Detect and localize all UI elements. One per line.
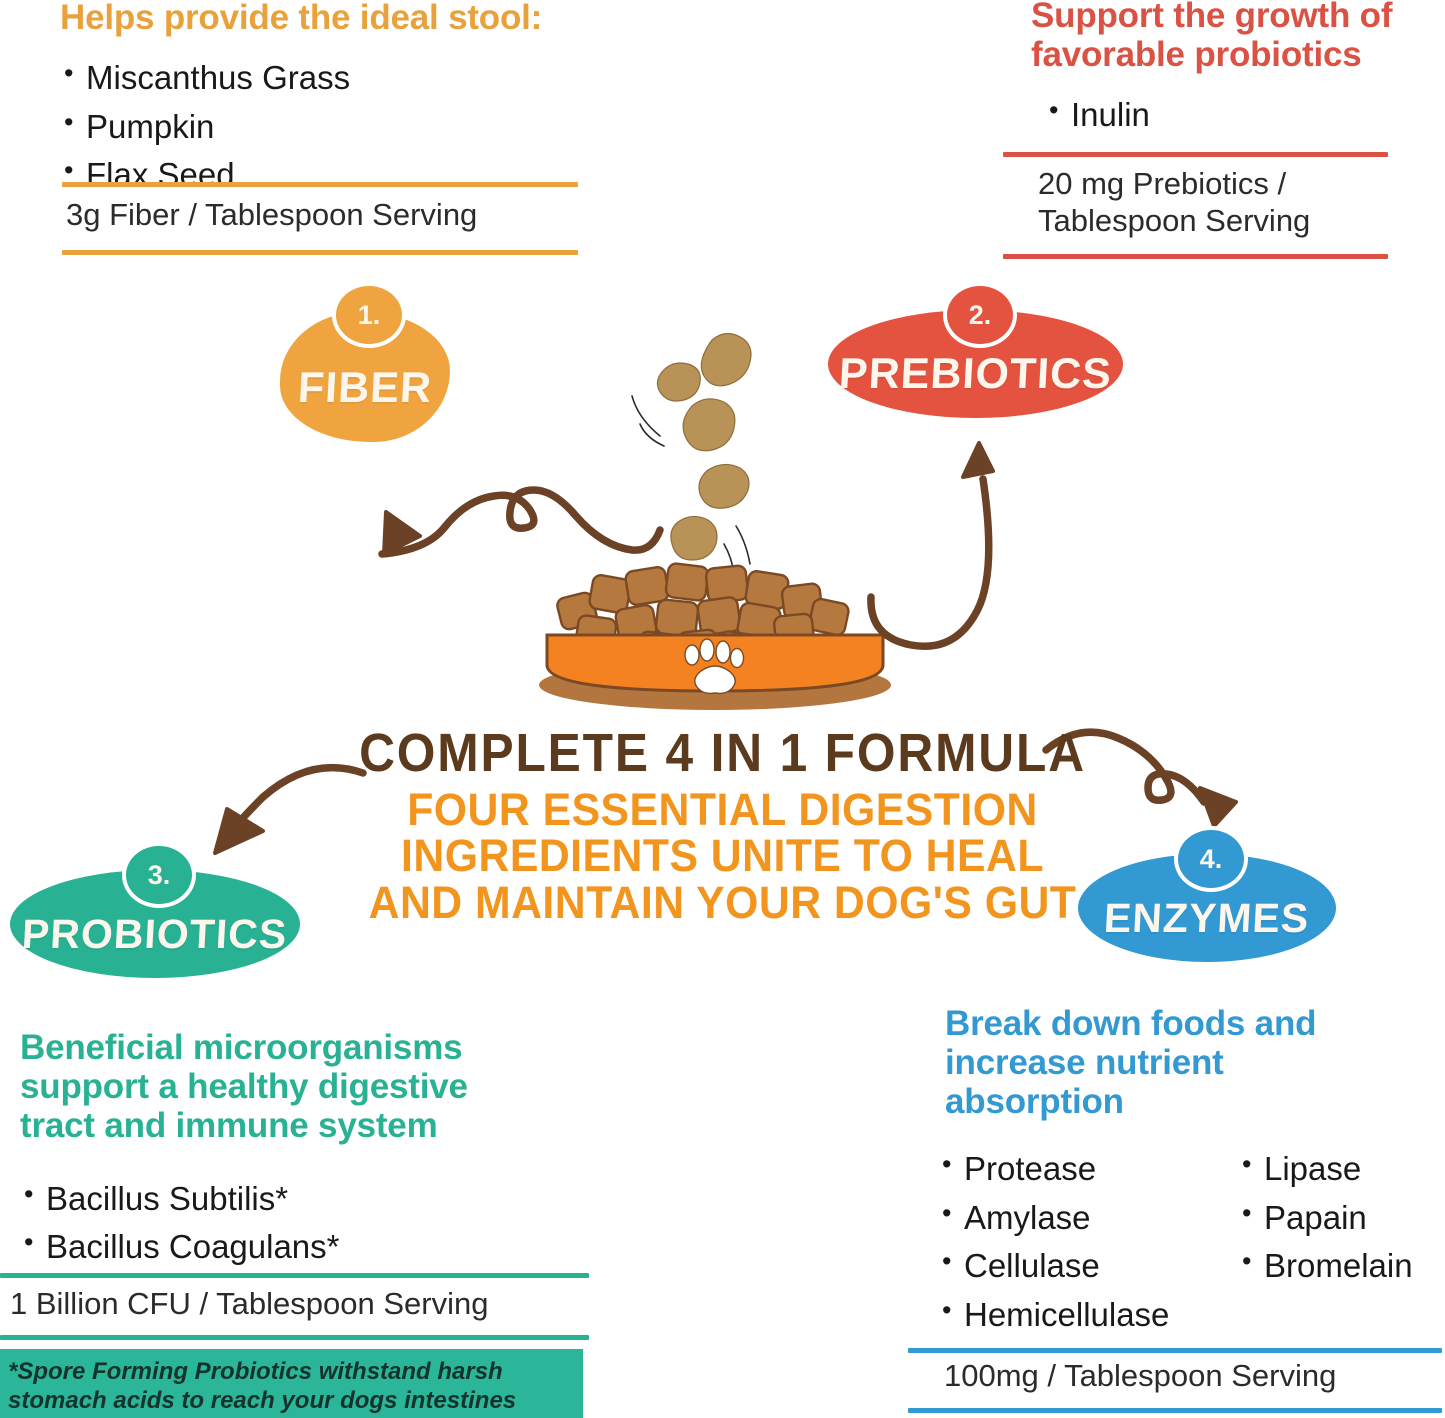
enzymes-column-right: Lipase Papain Bromelain: [1238, 1148, 1413, 1342]
badge-fiber-label: FIBER: [297, 367, 433, 410]
enzymes-info-block: Break down foods and increase nutrient a…: [945, 1004, 1415, 1122]
probiotics-info-block: Beneficial microorganisms support a heal…: [20, 1028, 580, 1275]
prebiotics-info-block: Support the growth of favorable probioti…: [1031, 0, 1431, 136]
list-item: Cellulase: [938, 1245, 1238, 1287]
badge-enzymes-number: 4.: [1174, 826, 1248, 892]
prebiotics-serving-line1: 20 mg Prebiotics /: [1038, 166, 1438, 203]
prebiotics-ingredient-list: Inulin: [1031, 94, 1431, 136]
probiotics-divider-bottom: [0, 1335, 589, 1340]
probiotics-heading-line3: tract and immune system: [20, 1106, 580, 1145]
list-item: Flax Seed: [60, 154, 580, 196]
prebiotics-serving-text: 20 mg Prebiotics / Tablespoon Serving: [1038, 166, 1438, 239]
enzymes-serving-text: 100mg / Tablespoon Serving: [944, 1358, 1445, 1395]
enzymes-divider-bottom: [908, 1408, 1442, 1413]
prebiotics-heading: Support the growth of favorable probioti…: [1031, 0, 1431, 74]
list-item: Miscanthus Grass: [60, 57, 580, 99]
enzymes-column-left: Protease Amylase Cellulase Hemicellulase: [938, 1148, 1238, 1342]
badge-prebiotics-label: PREBIOTICS: [838, 353, 1113, 396]
enzymes-list-right: Lipase Papain Bromelain: [1238, 1148, 1413, 1287]
list-item: Lipase: [1238, 1148, 1413, 1190]
probiotics-heading-line2: support a healthy digestive: [20, 1067, 580, 1106]
list-item: Protease: [938, 1148, 1238, 1190]
probiotics-heading-line1: Beneficial microorganisms: [20, 1028, 580, 1067]
list-item: Bacillus Coagulans*: [20, 1226, 580, 1268]
fiber-divider-bottom: [62, 250, 578, 255]
probiotics-serving-text: 1 Billion CFU / Tablespoon Serving: [10, 1286, 610, 1323]
prebiotics-divider-bottom: [1003, 254, 1388, 259]
badge-prebiotics: PREBIOTICS 2.: [828, 288, 1123, 408]
list-item: Pumpkin: [60, 106, 580, 148]
enzymes-heading-line1: Break down foods and: [945, 1004, 1415, 1043]
badge-prebiotics-number: 2.: [943, 282, 1017, 348]
list-item: Hemicellulase: [938, 1294, 1238, 1336]
arrow-to-prebiotics-icon: [855, 425, 1055, 655]
enzymes-divider-top: [908, 1348, 1442, 1353]
infographic-canvas: Helps provide the ideal stool: Miscanthu…: [0, 0, 1445, 1418]
probiotics-divider-top: [0, 1273, 589, 1278]
prebiotics-serving-line2: Tablespoon Serving: [1038, 203, 1438, 240]
prebiotics-heading-line1: Support the growth of: [1031, 0, 1431, 35]
badge-probiotics-number: 3.: [122, 842, 196, 908]
enzymes-list-left: Protease Amylase Cellulase Hemicellulase: [938, 1148, 1238, 1335]
page-title: COMPLETE 4 IN 1 FORMULA: [58, 726, 1387, 781]
probiotics-footnote-line1: *Spore Forming Probiotics withstand hars…: [8, 1357, 583, 1386]
enzymes-heading-line3: absorption: [945, 1082, 1415, 1121]
enzymes-ingredient-columns: Protease Amylase Cellulase Hemicellulase…: [938, 1148, 1443, 1342]
list-item: Inulin: [1045, 94, 1431, 136]
probiotics-footnote: *Spore Forming Probiotics withstand hars…: [0, 1349, 583, 1418]
probiotics-ingredient-list: Bacillus Subtilis* Bacillus Coagulans*: [20, 1178, 580, 1268]
list-item: Bromelain: [1238, 1245, 1413, 1287]
fiber-info-block: Helps provide the ideal stool: Miscanthu…: [60, 0, 580, 203]
probiotics-footnote-line2: stomach acids to reach your dogs intesti…: [8, 1386, 583, 1415]
fiber-ingredient-list: Miscanthus Grass Pumpkin Flax Seed: [60, 57, 580, 196]
badge-probiotics-label: PROBIOTICS: [21, 914, 288, 955]
list-item: Papain: [1238, 1197, 1413, 1239]
fiber-divider-top: [62, 182, 578, 187]
enzymes-heading: Break down foods and increase nutrient a…: [945, 1004, 1415, 1122]
probiotics-heading: Beneficial microorganisms support a heal…: [20, 1028, 580, 1146]
badge-enzymes-label: ENZYMES: [1103, 898, 1310, 939]
badge-fiber-number: 1.: [332, 282, 406, 348]
fiber-heading: Helps provide the ideal stool:: [60, 0, 580, 37]
list-item: Amylase: [938, 1197, 1238, 1239]
arrow-to-fiber-icon: [350, 420, 670, 610]
fiber-serving-text: 3g Fiber / Tablespoon Serving: [66, 197, 626, 234]
prebiotics-divider-top: [1003, 152, 1388, 157]
enzymes-heading-line2: increase nutrient: [945, 1043, 1415, 1082]
badge-fiber: FIBER 1.: [280, 290, 450, 420]
list-item: Bacillus Subtilis*: [20, 1178, 580, 1220]
prebiotics-heading-line2: favorable probiotics: [1031, 35, 1431, 74]
